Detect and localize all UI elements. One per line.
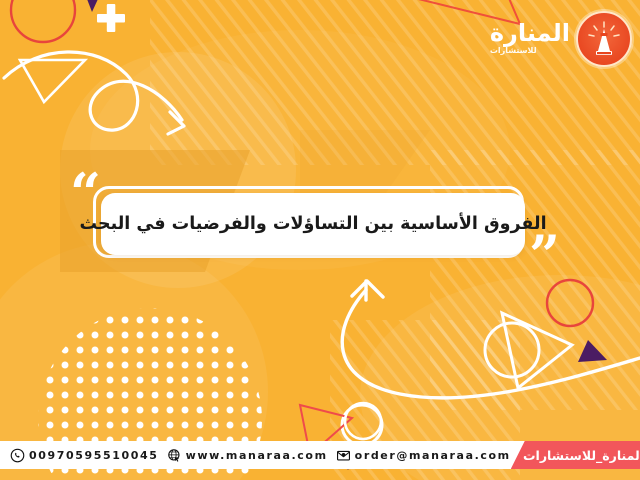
- globe-icon: [167, 448, 182, 463]
- contact-whatsapp[interactable]: 00970595510045: [10, 448, 159, 463]
- brand-logo: المنارة للاستشارات: [490, 8, 632, 70]
- quote-close-mark: ”: [529, 228, 560, 282]
- email-icon: [336, 448, 351, 463]
- lighthouse-glyph: [578, 13, 630, 65]
- title-card: الفروق الأساسية بين التساؤلات والفرضيات …: [101, 193, 525, 255]
- hashtag-banner: #المنارة_للاستشارات: [511, 441, 640, 469]
- email-address: order@manaraa.com: [355, 450, 511, 461]
- logo-wordmark: المنارة للاستشارات: [490, 21, 570, 58]
- contact-email[interactable]: order@manaraa.com: [336, 448, 511, 463]
- lighthouse-icon: [576, 11, 632, 67]
- page-title: الفروق الأساسية بين التساؤلات والفرضيات …: [79, 214, 546, 234]
- footer-contacts: 00970595510045 www.manaraa.com: [0, 448, 511, 463]
- poster-canvas: “ ” الفروق الأساسية بين التساؤلات والفرض…: [0, 0, 640, 480]
- website-url: www.manaraa.com: [186, 450, 328, 461]
- logo-tagline: للاستشارات: [490, 45, 537, 58]
- whatsapp-icon: [10, 448, 25, 463]
- contact-website[interactable]: www.manaraa.com: [167, 448, 328, 463]
- whatsapp-number: 00970595510045: [29, 450, 159, 461]
- hashtag-text: #المنارة_للاستشارات: [523, 448, 640, 463]
- footer-bar: 00970595510045 www.manaraa.com: [0, 441, 640, 469]
- logo-name: المنارة: [490, 21, 570, 45]
